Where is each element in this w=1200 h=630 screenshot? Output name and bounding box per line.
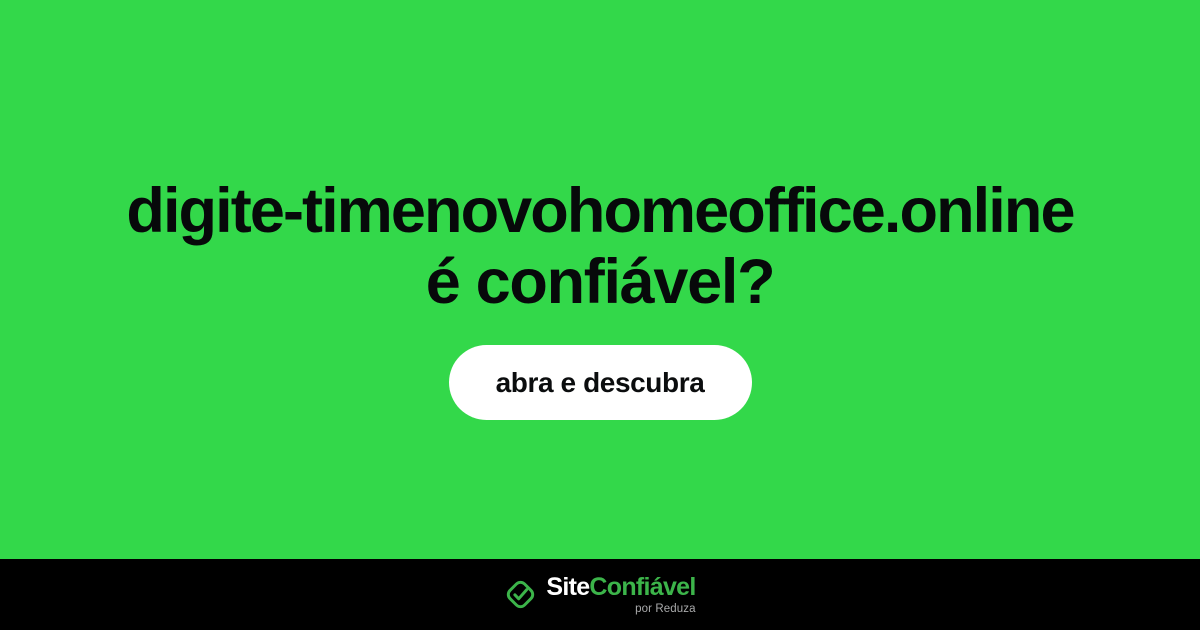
footer-bar: SiteConfiável por Reduza bbox=[0, 559, 1200, 630]
brand-logo-link[interactable]: SiteConfiável por Reduza bbox=[504, 574, 695, 616]
open-and-discover-button[interactable]: abra e descubra bbox=[449, 345, 752, 420]
brand-mark-wrap bbox=[504, 578, 537, 611]
brand-tagline: por Reduza bbox=[635, 602, 695, 616]
headline-question-line: é confiável? bbox=[50, 247, 1150, 318]
og-card: digite-timenovohomeoffice.online é confi… bbox=[0, 0, 1200, 630]
brand-name: SiteConfiável bbox=[546, 574, 695, 600]
headline-domain-line: digite-timenovohomeoffice.online bbox=[50, 176, 1150, 247]
brand-text-block: SiteConfiável por Reduza bbox=[546, 574, 695, 616]
page-title: digite-timenovohomeoffice.online é confi… bbox=[50, 176, 1150, 318]
brand-name-site: Site bbox=[546, 573, 589, 601]
shield-check-icon bbox=[504, 578, 537, 611]
hero-section: digite-timenovohomeoffice.online é confi… bbox=[0, 0, 1200, 559]
cta-container: abra e descubra bbox=[0, 345, 1200, 420]
brand-name-confiavel: Confiável bbox=[589, 573, 695, 601]
